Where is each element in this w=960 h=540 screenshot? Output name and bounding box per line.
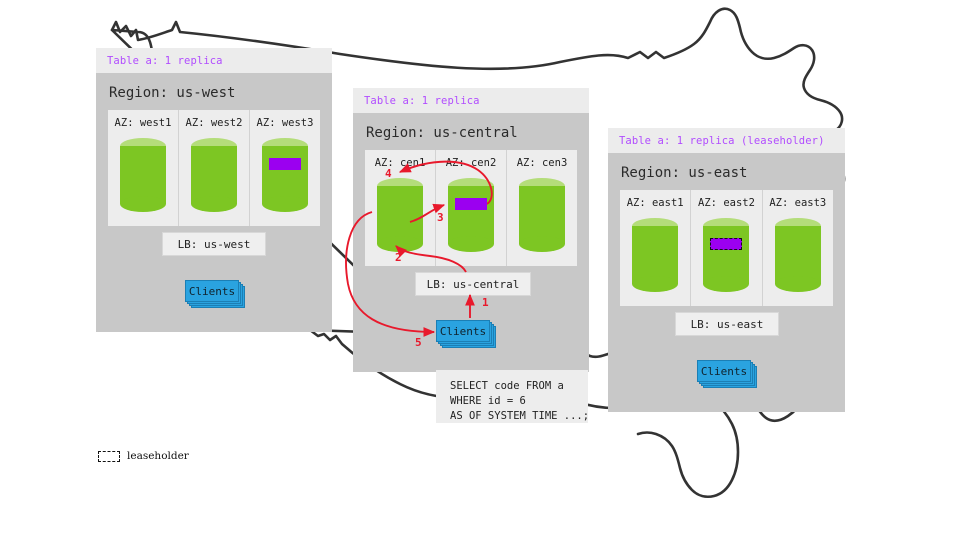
flow-step-number-2: 2 xyxy=(395,251,402,264)
flow-step-number-3: 3 xyxy=(437,211,444,224)
legend-label: leaseholder xyxy=(127,450,189,462)
legend-leaseholder: leaseholder xyxy=(98,450,189,462)
flow-step-number-4: 4 xyxy=(385,167,392,180)
replica-block-east2-leaseholder[interactable] xyxy=(710,238,742,250)
replica-block-west3[interactable] xyxy=(269,158,301,170)
flow-step-number-5: 5 xyxy=(415,336,422,349)
diagram-canvas: Table a: 1 replica Region: us-west AZ: w… xyxy=(0,0,960,540)
dashed-rect-icon xyxy=(98,451,120,462)
flow-step-number-1: 1 xyxy=(482,296,489,309)
replica-block-cen2[interactable] xyxy=(455,198,487,210)
flow-arrow-2 xyxy=(396,246,466,272)
flow-arrow-5 xyxy=(346,212,434,332)
